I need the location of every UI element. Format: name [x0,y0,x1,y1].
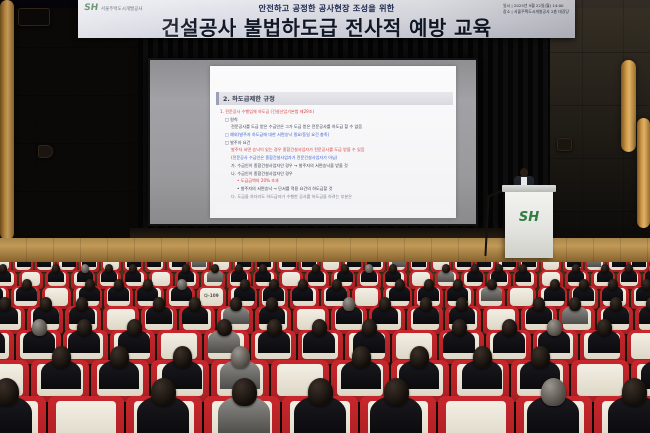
audience-member-shoulders [192,262,207,267]
audience-member-head [453,279,463,290]
audience-member-head [533,297,545,310]
seat-cushion [355,288,378,305]
slide-line: 전문공사를 도급 받은 수급인은 그가 도급 받은 전문공사를 하도급 할 수 … [220,125,448,129]
audience-member-head [40,297,52,310]
audience-member-head [572,264,580,273]
audience-member-head [502,319,517,336]
audience-member-head [269,279,279,290]
banner-datetime: 일시 | 2025년 9월 22일(월) 14:00 [503,3,569,9]
audience-member-shoulders [457,262,472,267]
left-wall-panel [0,0,150,262]
audience-member-head [456,297,468,310]
audience-member-head [110,346,129,367]
audience-member-shoulders [502,262,517,267]
audience-member-head [129,264,137,273]
slide-line: □ 원칙 [220,118,448,122]
audience-seating-area: 다-111다-110다-109다-98다-88다-84다-64다-44 [0,262,650,433]
seat-cushion [152,272,171,286]
audience-member-head [22,279,32,290]
audience-member-head [642,279,650,290]
event-banner: SH 서울주택도시개발공사 안전하고 공정한 공사현장 조성을 위한 건설공사 … [78,0,575,38]
audience-member-head [597,319,612,336]
lectern-top-surface [502,185,556,192]
audience-member-head [625,264,633,273]
audience-member-head [622,378,647,406]
projection-screen-frame: 2. 하도급제한 규정 1. 전문공사 수행업체 하도급 (건설산업기본법 제2… [148,58,478,226]
wall-speaker-icon [557,138,572,151]
audience-member-head [362,319,377,336]
slide-line: □ 발주자 요건 [220,141,448,145]
banner-location: 장소 | 서울주택도시개발공사 2층 대강당 [503,9,569,15]
audience-member-head [0,297,11,310]
audience-member-head [343,297,355,310]
audience-member-head [312,319,327,336]
audience-member-head [232,378,257,406]
right-acoustic-column [621,60,636,152]
audience-member-head [420,297,432,310]
projection-screen: 2. 하도급제한 규정 1. 전문공사 수행업체 하도급 (건설산업기본법 제2… [150,60,476,224]
seat [627,330,650,364]
audience-member-head [352,346,371,367]
audience-member-head [0,264,7,273]
wall-speaker-icon [38,145,53,158]
audience-member-shoulders [17,262,32,267]
audience-member-head [610,297,622,310]
audience-member-head [471,264,479,273]
audience-member-shoulders [347,262,362,267]
audience-member-head [569,297,581,310]
seat-cushion [446,401,505,433]
audience-member-head [601,264,609,273]
audience-member-head [531,346,550,367]
right-acoustic-column [637,118,650,228]
audience-member-head [235,264,243,273]
seat-cushion [631,333,650,359]
audience-member-shoulders [412,262,427,267]
audience-member-head [211,264,219,273]
slide-footer-bar [216,204,450,214]
audience-member-head [143,279,153,290]
slide-line: □ 예외(발주자 하도급에 대한 서면승낙 필요/동일 요건 충족) [220,133,448,137]
audience-member-shoulders [632,262,647,267]
slide-line: • 도급금액의 20% 초과 [220,179,448,183]
audience-member-head [230,297,242,310]
audience-member-shoulders [282,262,297,267]
audience-member-head [259,264,267,273]
presenter-head [520,168,528,177]
audience-member-head [76,297,88,310]
audience-member-head [177,279,187,290]
left-wall-seams [0,0,150,262]
slide-line: (전문공사 수급인은 종합건설사업자가 전문건설사업자가 아님) [220,156,448,160]
lectern-podium: SH [505,190,553,258]
audience-member-head [541,378,566,406]
audience-member-shoulders [477,262,492,267]
audience-member-head [105,264,113,273]
audience-member-head [298,279,308,290]
audience-member-head [189,297,201,310]
audience-member-head [217,319,232,336]
audience-member-head [550,279,560,290]
audience-member-head [0,378,19,406]
seat-cushion [510,288,533,305]
audience-member-head [266,297,278,310]
slide-section-header: 2. 하도급제한 규정 [216,92,453,105]
slide-line: 가. 수급인이 종합건설사업자인 경우 → 발주자의 서면승낙을 받을 것 [220,164,448,168]
audience-member-head [240,279,250,290]
audience-member-head [52,264,60,273]
audience-member-head [153,297,165,310]
audience-member-head [547,319,562,336]
audience-member-head [395,279,405,290]
audience-member-head [81,264,89,273]
audience-member-head [487,279,497,290]
sh-logo-icon: SH [505,210,553,225]
audience-member-head [231,346,250,367]
audience-member-head [312,264,320,273]
audience-member-head [410,346,429,367]
audience-member-head [424,279,434,290]
seat-cushion [56,401,115,433]
slide-section-title: 2. 하도급제한 규정 [219,94,275,103]
audience-member-head [151,378,176,406]
audience-member-shoulders [37,262,52,267]
banner-title: 건설공사 불법하도급 전사적 예방 교육 [78,12,575,38]
audience-member-shoulders [62,262,77,267]
audience-member-head [127,319,142,336]
audience-member-head [85,279,95,290]
audience-member-head [173,346,192,367]
audience-member-shoulders [147,262,162,267]
audience-member-head [608,279,618,290]
audience-member-head [473,346,492,367]
audience-member-head [77,319,92,336]
seat-cushion [577,364,622,396]
slide-line: • 발주자의 서면승낙 → 단서를 적용 요건의 하도급할 것 [220,187,448,191]
audience-member-head [341,264,349,273]
wall-speaker-icon [18,8,50,26]
audience-member-head [32,319,47,336]
seat-cushion [323,262,339,270]
audience-member-head [308,378,333,406]
slide-body-text: 1. 전문공사 수행업체 하도급 (건설산업기본법 제29조)□ 원칙전문공사를… [220,110,448,202]
slide-line: 나. 수급인이 종합건설사업자인 경우 [220,172,448,176]
slide-line: 1. 전문공사 수행업체 하도급 (건설산업기본법 제29조) [220,110,448,114]
audience-member-head [52,346,71,367]
presentation-slide: 2. 하도급제한 규정 1. 전문공사 수행업체 하도급 (건설산업기본법 제2… [210,66,456,218]
left-acoustic-column [0,0,14,240]
audience-member-head [365,264,373,273]
audience-member-head [579,279,589,290]
seat-cushion [543,262,559,270]
seat-number-label: 다-109 [197,293,226,299]
audience-member-head [182,264,190,273]
slide-line: 다. 도급을 하더라도 하도급자가 수행한 공사를 하도급을 하려는 부분은 [220,195,448,199]
audience-member-head [114,279,124,290]
audience-member-head [495,264,503,273]
audience-member-shoulders [587,262,602,267]
audience-member-head [646,297,650,310]
audience-member-head [519,264,527,273]
slide-line: 발주자 서면 승낙이 있는 경우 종합건설사업자가 전문공사를 도급 받을 수 … [220,148,448,152]
audience-member-head [332,279,342,290]
seat [438,396,514,433]
audience-member-shoulders [612,262,627,267]
auditorium-scene: SH 서울주택도시개발공사 안전하고 공정한 공사현장 조성을 위한 건설공사 … [0,0,650,433]
audience-member-head [442,264,450,273]
audience-member-head [389,264,397,273]
seat [48,396,124,433]
audience-member-head [267,319,282,336]
audience-member-head [452,319,467,336]
audience-member-head [379,297,391,310]
audience-member-head [384,378,409,406]
banner-meta-block: 일시 | 2025년 9월 22일(월) 14:00 장소 | 서울주택도시개발… [503,3,569,14]
